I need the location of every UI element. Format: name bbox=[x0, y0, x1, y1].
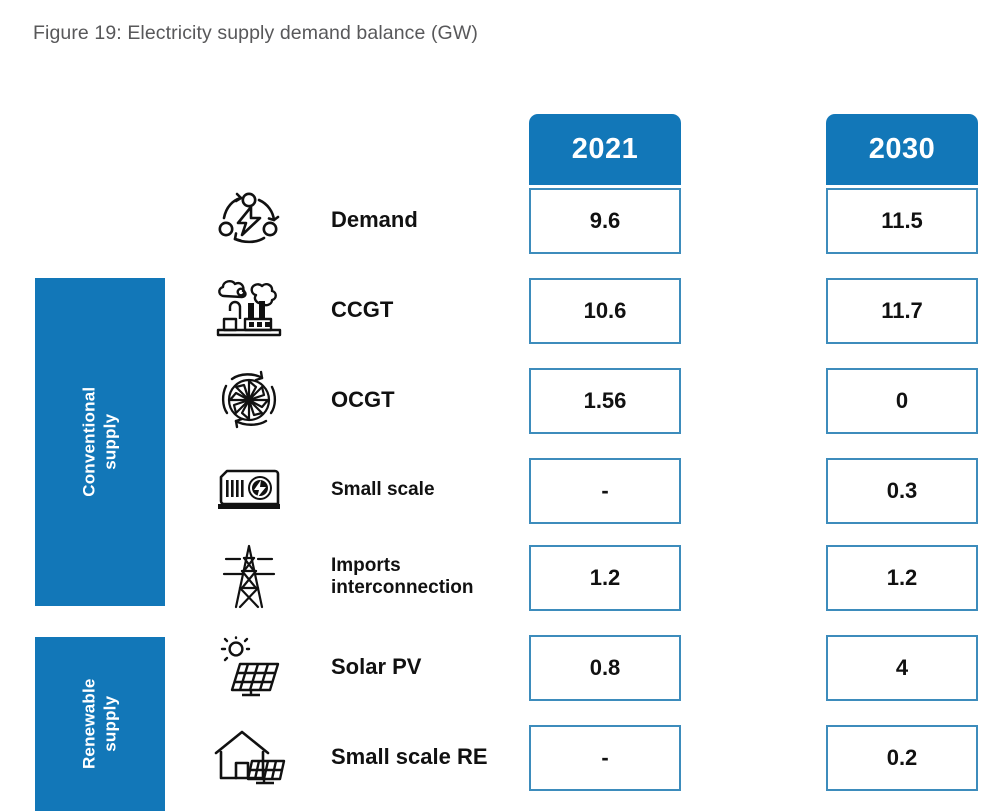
row-label: Solar PV bbox=[331, 632, 526, 702]
value-cell-2030: 0 bbox=[826, 368, 978, 434]
value-cell-2030: 0.3 bbox=[826, 458, 978, 524]
energy-cycle-icon bbox=[210, 185, 288, 255]
row-label: Small scale RE bbox=[331, 722, 526, 792]
table-row: OCGT 1.56 0 bbox=[0, 365, 1000, 435]
row-label: Small scale bbox=[331, 455, 526, 525]
value-cell-2021: 1.2 bbox=[529, 545, 681, 611]
table-row: Imports interconnection 1.2 1.2 bbox=[0, 542, 1000, 612]
solar-panel-sun-icon bbox=[210, 632, 288, 702]
row-label: OCGT bbox=[331, 365, 526, 435]
value-cell-2021: - bbox=[529, 458, 681, 524]
row-label: Demand bbox=[331, 185, 526, 255]
row-label: Imports interconnection bbox=[331, 542, 526, 612]
house-solar-icon bbox=[210, 722, 288, 792]
table-row: Solar PV 0.8 4 bbox=[0, 632, 1000, 702]
column-header-2021: 2021 bbox=[529, 114, 681, 185]
value-cell-2030: 0.2 bbox=[826, 725, 978, 791]
value-cell-2030: 11.5 bbox=[826, 188, 978, 254]
page-title: Figure 19: Electricity supply demand bal… bbox=[33, 22, 478, 45]
factory-smoke-icon bbox=[210, 275, 288, 345]
column-header-2030: 2030 bbox=[826, 114, 978, 185]
transmission-tower-icon bbox=[210, 542, 288, 612]
table-row: CCGT 10.6 11.7 bbox=[0, 275, 1000, 345]
table-row: Small scale RE - 0.2 bbox=[0, 722, 1000, 792]
value-cell-2021: 9.6 bbox=[529, 188, 681, 254]
value-cell-2021: 0.8 bbox=[529, 635, 681, 701]
value-cell-2030: 4 bbox=[826, 635, 978, 701]
value-cell-2030: 1.2 bbox=[826, 545, 978, 611]
row-label: CCGT bbox=[331, 275, 526, 345]
table-row: Small scale - 0.3 bbox=[0, 455, 1000, 525]
table-row: Demand 9.6 11.5 bbox=[0, 185, 1000, 255]
turbine-cycle-icon bbox=[210, 365, 288, 435]
value-cell-2021: - bbox=[529, 725, 681, 791]
value-cell-2021: 10.6 bbox=[529, 278, 681, 344]
generator-icon bbox=[210, 455, 288, 525]
value-cell-2021: 1.56 bbox=[529, 368, 681, 434]
value-cell-2030: 11.7 bbox=[826, 278, 978, 344]
